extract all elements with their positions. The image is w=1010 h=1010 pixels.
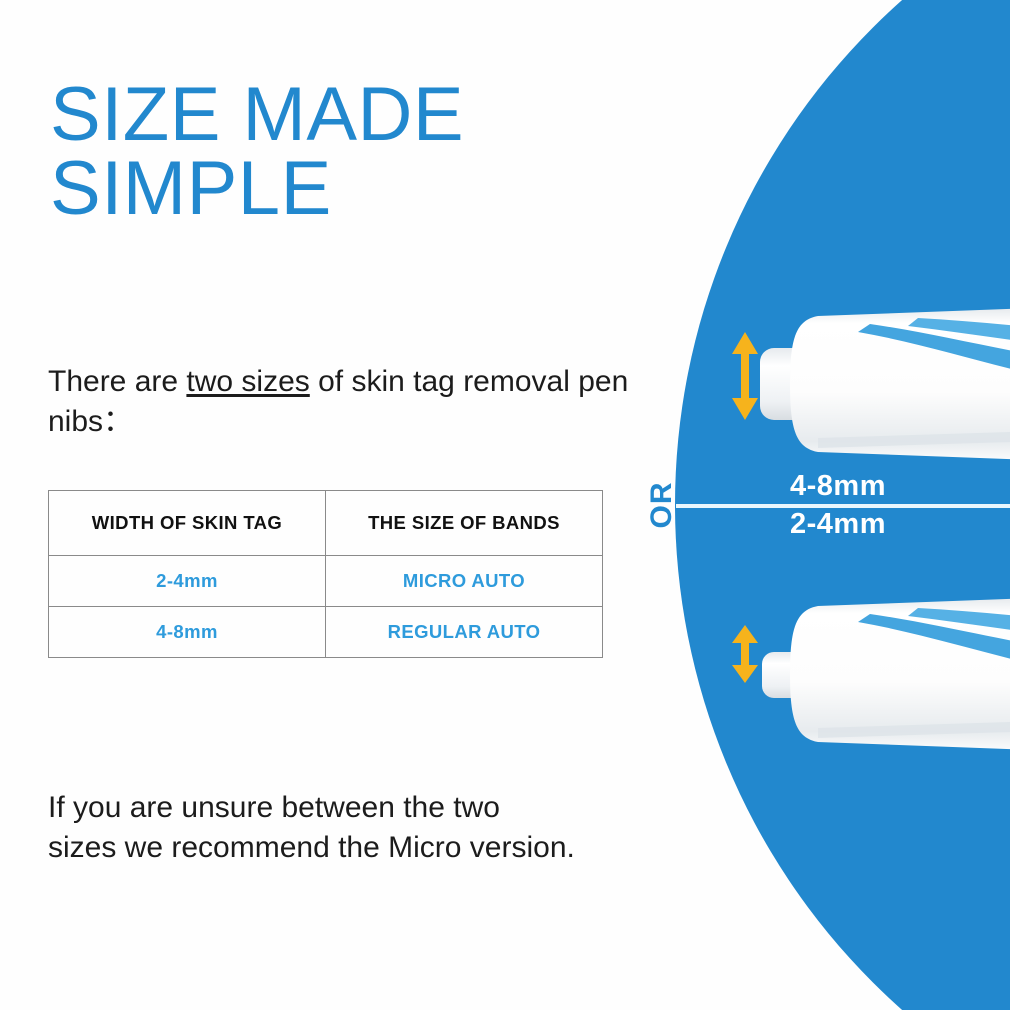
table-header-width: WIDTH OF SKIN TAG (49, 491, 326, 556)
footnote-line-2: sizes we recommend the Micro version. (48, 831, 575, 864)
footnote-line-1: If you are unsure between the two (48, 791, 500, 824)
table-row: 4-8mm REGULAR AUTO (49, 607, 603, 658)
table-cell-width-regular: 4-8mm (49, 607, 326, 658)
intro-text-emphasis: two sizes (186, 365, 309, 398)
page-title: SIZE MADE SIMPLE (50, 78, 650, 227)
size-arrow-large-icon (728, 330, 762, 422)
size-table: WIDTH OF SKIN TAG THE SIZE OF BANDS 2-4m… (48, 490, 603, 658)
table-row: 2-4mm MICRO AUTO (49, 556, 603, 607)
pen-body-graphic (740, 578, 1010, 778)
size-label-large: 4-8mm (790, 470, 886, 503)
micro-auto-pen-illustration (740, 578, 1010, 778)
table-cell-band-regular: REGULAR AUTO (326, 607, 603, 658)
headline-line-1: SIZE MADE (50, 72, 464, 157)
intro-paragraph: There are two sizes of skin tag removal … (48, 362, 668, 442)
table-header-band-size: THE SIZE OF BANDS (326, 491, 603, 556)
size-arrow-small-icon (728, 623, 762, 685)
pen-body-graphic (740, 288, 1010, 488)
table-cell-band-micro: MICRO AUTO (326, 556, 603, 607)
intro-text-before: There are (48, 365, 186, 398)
infographic-page: SIZE MADE SIMPLE There are two sizes of … (0, 0, 1010, 1010)
headline-line-2: SIMPLE (50, 152, 650, 226)
size-label-small: 2-4mm (790, 508, 886, 541)
table-cell-width-micro: 2-4mm (49, 556, 326, 607)
regular-auto-pen-illustration (740, 288, 1010, 488)
table-header-row: WIDTH OF SKIN TAG THE SIZE OF BANDS (49, 491, 603, 556)
or-label: OR (627, 470, 697, 540)
recommendation-note: If you are unsure between the two sizes … (48, 788, 648, 868)
